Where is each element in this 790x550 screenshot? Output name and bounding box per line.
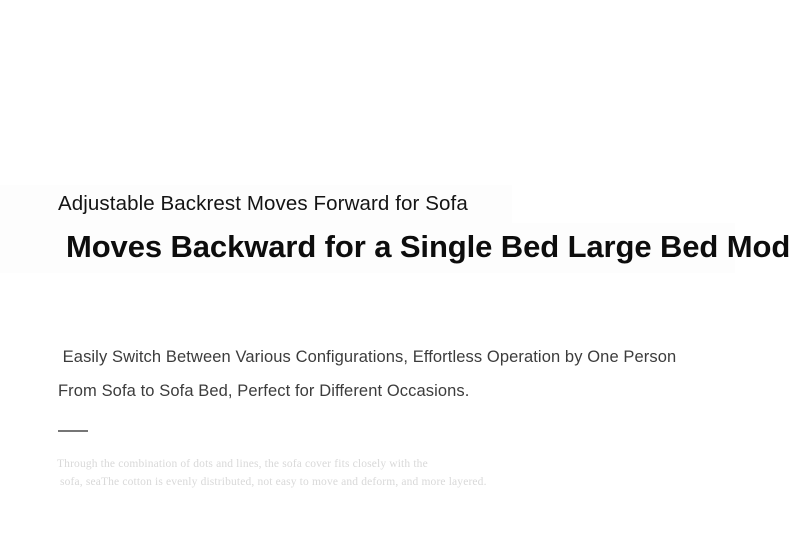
heading-line-2: Moves Backward for a Single Bed Large Be… xyxy=(0,225,735,269)
description-block: Easily Switch Between Various Configurat… xyxy=(58,340,758,408)
heading-band-secondary: Moves Backward for a Single Bed Large Be… xyxy=(0,223,735,273)
footnote-line-1: Through the combination of dots and line… xyxy=(57,455,777,473)
section-divider xyxy=(58,430,88,432)
footnote-line-2: sofa, seaThe cotton is evenly distribute… xyxy=(57,473,777,491)
hero-media-placeholder xyxy=(0,0,790,185)
description-line-2: From Sofa to Sofa Bed, Perfect for Diffe… xyxy=(58,374,758,408)
description-line-1: Easily Switch Between Various Configurat… xyxy=(58,340,758,374)
heading-block: Adjustable Backrest Moves Forward for So… xyxy=(0,185,790,273)
product-feature-page: Adjustable Backrest Moves Forward for So… xyxy=(0,0,790,550)
heading-line-1: Adjustable Backrest Moves Forward for So… xyxy=(0,189,512,219)
footnote-block: Through the combination of dots and line… xyxy=(57,455,777,491)
heading-band-primary: Adjustable Backrest Moves Forward for So… xyxy=(0,185,512,223)
